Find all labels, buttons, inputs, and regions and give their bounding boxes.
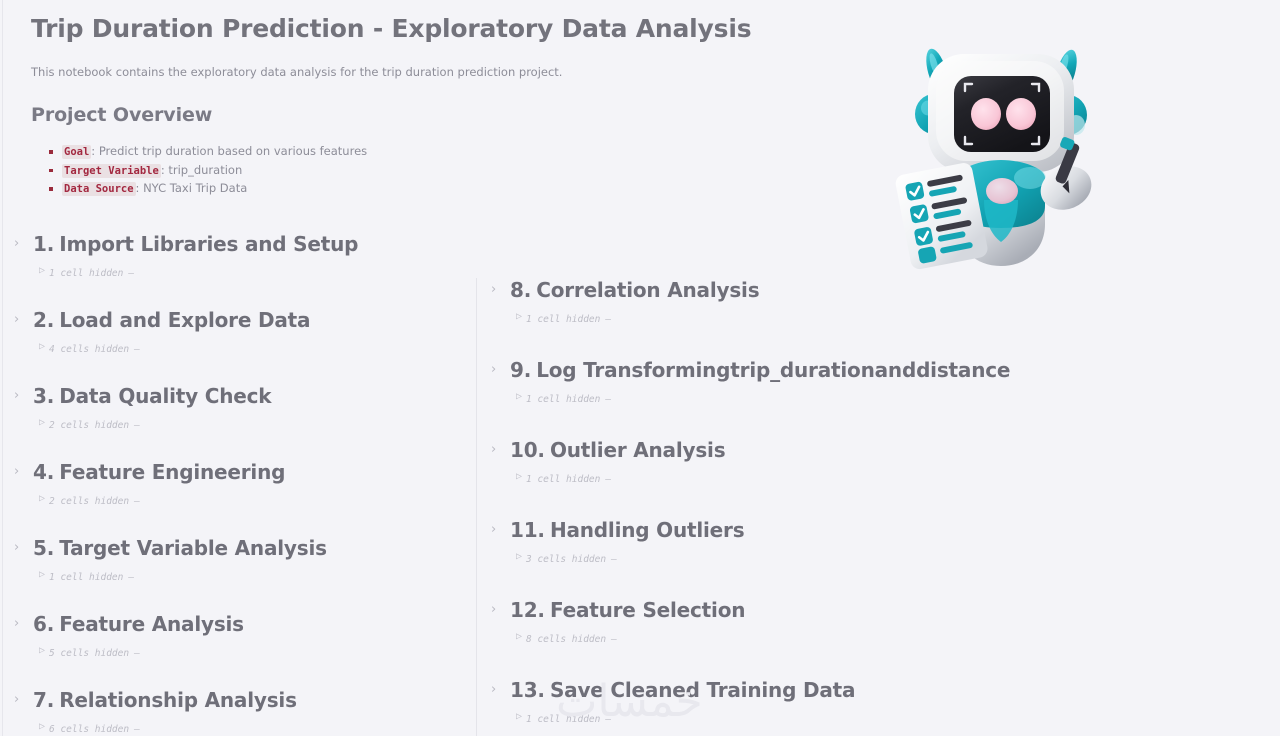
section-outlier-analysis[interactable]: › 10. Outlier Analysis 1 cell hidden — [477,438,1280,485]
hidden-cells-dash: — [605,714,611,725]
triangle-right-icon [516,396,521,404]
section-handling-outliers[interactable]: › 11. Handling Outliers 3 cells hidden — [477,518,1280,565]
hidden-cells-label: 2 cells hidden [49,496,129,507]
hidden-cells-label: 5 cells hidden [49,648,129,659]
hidden-cells-dash: — [128,268,134,279]
section-number: 1. [33,232,54,257]
section-number: 6. [33,612,54,637]
overview-value-target-variable: trip_duration [168,163,242,177]
overview-label-data-source: Data Source [62,182,136,196]
triangle-right-icon [39,270,44,278]
hidden-cells-indicator[interactable]: 6 cells hidden — [33,724,474,735]
section-title: Load and Explore Data [59,308,310,333]
section-title: Save Cleaned Training Data [550,678,855,703]
spacer [0,659,474,688]
triangle-right-icon [516,636,521,644]
spacer [477,565,1280,598]
hidden-cells-label: 1 cell hidden [526,474,600,485]
hidden-cells-label: 8 cells hidden [526,634,606,645]
section-title: Handling Outliers [550,518,744,543]
checkbox-2 [909,204,929,224]
spacer [477,645,1280,678]
list-item: Goal: Predict trip duration based on var… [62,143,861,162]
overview-value-goal: Predict trip duration based on various f… [99,144,367,158]
section-title: Import Libraries and Setup [59,232,358,257]
section-title: Correlation Analysis [536,278,759,303]
section-number: 8. [510,278,531,303]
section-title: Relationship Analysis [59,688,297,713]
section-save-cleaned-training-data[interactable]: › 13. Save Cleaned Training Data 1 cell … [477,678,1280,725]
hidden-cells-indicator[interactable]: 1 cell hidden — [33,268,474,279]
overview-separator: : [136,181,144,195]
hidden-cells-label: 2 cells hidden [49,420,129,431]
hidden-cells-indicator[interactable]: 2 cells hidden — [33,420,474,431]
hidden-cells-indicator[interactable]: 8 cells hidden — [510,634,1280,645]
triangle-right-icon [39,346,44,354]
chevron-right-icon[interactable]: › [14,542,24,554]
hidden-cells-indicator[interactable]: 1 cell hidden — [510,314,1280,325]
notebook-page: Trip Duration Prediction - Exploratory D… [0,0,1280,736]
chevron-right-icon[interactable]: › [491,604,501,616]
hidden-cells-label: 1 cell hidden [49,572,123,583]
document-header: Trip Duration Prediction - Exploratory D… [31,14,861,199]
section-number: 9. [510,358,531,383]
list-item: Data Source: NYC Taxi Trip Data [62,180,861,199]
hidden-cells-indicator[interactable]: 3 cells hidden — [510,554,1280,565]
overview-separator: : [91,144,99,158]
section-feature-engineering[interactable]: › 4. Feature Engineering 2 cells hidden … [0,460,474,507]
robot-mascot-illustration [880,28,1120,280]
hidden-cells-label: 4 cells hidden [49,344,129,355]
hidden-cells-dash: — [134,724,140,735]
chevron-right-icon[interactable]: › [491,284,501,296]
chevron-right-icon[interactable]: › [14,466,24,478]
section-number: 11. [510,518,545,543]
spacer [0,355,474,384]
section-number: 12. [510,598,545,623]
section-title: Feature Selection [550,598,745,623]
page-title: Trip Duration Prediction - Exploratory D… [31,14,861,44]
section-data-quality-check[interactable]: › 3. Data Quality Check 2 cells hidden — [0,384,474,431]
triangle-right-icon [516,316,521,324]
chevron-right-icon[interactable]: › [14,314,24,326]
section-number: 10. [510,438,545,463]
section-number: 5. [33,536,54,561]
section-title-prefix: Log Transforming [536,358,730,383]
triangle-right-icon [39,726,44,734]
hidden-cells-dash: — [611,554,617,565]
chevron-right-icon[interactable]: › [491,524,501,536]
section-title: Outlier Analysis [550,438,725,463]
list-item: Target Variable: trip_duration [62,162,861,181]
hidden-cells-indicator[interactable]: 1 cell hidden — [510,714,1280,725]
hidden-cells-label: 1 cell hidden [526,314,600,325]
hidden-cells-indicator[interactable]: 4 cells hidden — [33,344,474,355]
spacer [0,507,474,536]
chevron-right-icon[interactable]: › [491,444,501,456]
section-number: 2. [33,308,54,333]
sections-column-right: › 8. Correlation Analysis 1 cell hidden … [476,278,1280,736]
triangle-right-icon [39,422,44,430]
spacer [0,431,474,460]
hidden-cells-dash: — [611,634,617,645]
section-title: Data Quality Check [59,384,271,409]
chevron-right-icon[interactable]: › [491,364,501,376]
hidden-cells-dash: — [134,496,140,507]
spacer [477,405,1280,438]
triangle-right-icon [516,716,521,724]
section-correlation-analysis[interactable]: › 8. Correlation Analysis 1 cell hidden … [477,278,1280,325]
checkbox-1 [905,181,925,201]
hidden-cells-dash: — [605,394,611,405]
section-title: Target Variable Analysis [59,536,327,561]
intro-paragraph: This notebook contains the exploratory d… [31,64,861,81]
section-feature-selection[interactable]: › 12. Feature Selection 8 cells hidden — [477,598,1280,645]
overview-label-target-variable: Target Variable [62,164,161,178]
spacer [477,325,1280,358]
robot-head [928,54,1074,172]
robot-chest-light [986,178,1018,204]
section-title: Feature Engineering [59,460,285,485]
hidden-cells-dash: — [605,474,611,485]
hidden-cells-indicator[interactable]: 1 cell hidden — [33,572,474,583]
hidden-cells-label: 1 cell hidden [526,394,600,405]
checkbox-3 [914,226,934,246]
triangle-right-icon [516,556,521,564]
triangle-right-icon [39,650,44,658]
hidden-cells-dash: — [605,314,611,325]
triangle-right-icon [516,476,521,484]
section-load-and-explore-data[interactable]: › 2. Load and Explore Data 4 cells hidde… [0,308,474,355]
section-code-distance: distance [916,358,1010,383]
hidden-cells-indicator[interactable]: 1 cell hidden — [510,474,1280,485]
hidden-cells-indicator[interactable]: 1 cell hidden — [510,394,1280,405]
section-target-variable-analysis[interactable]: › 5. Target Variable Analysis 1 cell hid… [0,536,474,583]
overview-value-data-source: NYC Taxi Trip Data [143,181,247,195]
chevron-right-icon[interactable]: › [14,238,24,250]
chevron-right-icon[interactable]: › [491,684,501,696]
hidden-cells-indicator[interactable]: 5 cells hidden — [33,648,474,659]
robot-eye-right [1006,98,1036,130]
section-number: 3. [33,384,54,409]
project-overview-heading: Project Overview [31,104,861,126]
section-title-middle: and [875,358,916,383]
triangle-right-icon [39,498,44,506]
hidden-cells-dash: — [134,648,140,659]
section-number: 7. [33,688,54,713]
section-code-trip-duration: trip_duration [730,358,874,383]
project-overview-list: Goal: Predict trip duration based on var… [31,143,861,199]
hidden-cells-dash: — [134,344,140,355]
section-relationship-analysis[interactable]: › 7. Relationship Analysis 6 cells hidde… [0,688,474,735]
hidden-cells-dash: — [134,420,140,431]
section-log-transforming[interactable]: › 9. Log Transforming trip_duration and … [477,358,1280,405]
section-number: 4. [33,460,54,485]
hidden-cells-label: 6 cells hidden [49,724,129,735]
spacer [0,583,474,612]
section-number: 13. [510,678,545,703]
section-import-libraries-and-setup[interactable]: › 1. Import Libraries and Setup 1 cell h… [0,232,474,279]
section-feature-analysis[interactable]: › 6. Feature Analysis 5 cells hidden — [0,612,474,659]
hidden-cells-label: 1 cell hidden [526,714,600,725]
hidden-cells-label: 3 cells hidden [526,554,606,565]
robot-eye-left [971,98,1001,130]
hidden-cells-label: 1 cell hidden [49,268,123,279]
chevron-right-icon[interactable]: › [14,694,24,706]
hidden-cells-dash: — [128,572,134,583]
spacer [0,279,474,308]
chevron-right-icon[interactable]: › [14,618,24,630]
spacer [477,485,1280,518]
overview-label-goal: Goal [62,145,91,159]
section-title: Feature Analysis [59,612,244,637]
sections-column-left: › 1. Import Libraries and Setup 1 cell h… [0,232,474,736]
triangle-right-icon [39,574,44,582]
hidden-cells-indicator[interactable]: 2 cells hidden — [33,496,474,507]
chevron-right-icon[interactable]: › [14,390,24,402]
